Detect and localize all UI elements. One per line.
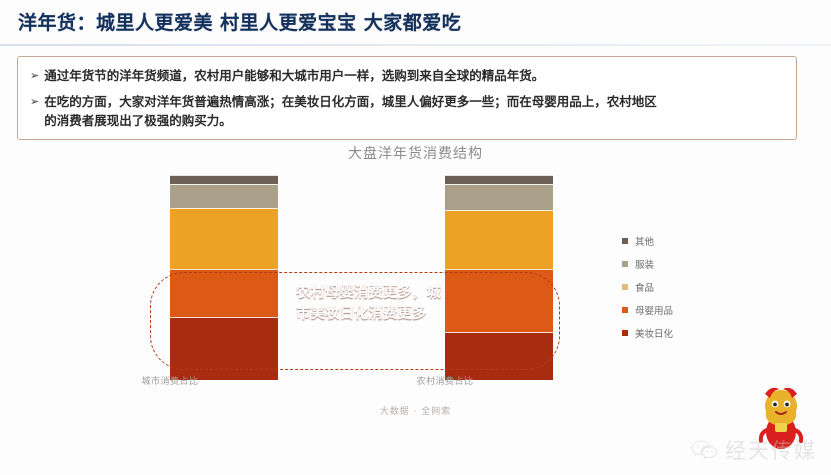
legend-label: 服装: [635, 257, 654, 271]
wechat-icon: [691, 439, 717, 461]
legend-label: 母婴用品: [635, 303, 673, 317]
bar-segment: [445, 210, 553, 269]
legend-swatch: [622, 307, 628, 313]
x-axis-label-rural: 农村消费占比: [375, 374, 515, 387]
legend-item: 其他: [622, 234, 673, 248]
summary-callout-box: ➢ 通过年货节的洋年货频道，农村用户能够和大城市用户一样，选购到来自全球的精品年…: [17, 56, 797, 140]
legend-swatch: [622, 238, 628, 244]
bar-rural: [445, 175, 553, 380]
watermark-text: 经天传媒: [725, 435, 817, 465]
bar-segment: [170, 175, 278, 184]
bar-segment: [445, 184, 553, 210]
x-axis-label-city: 城市消费占比: [100, 374, 240, 387]
bar-segment: [170, 208, 278, 270]
bullet-text: 在吃的方面，大家对洋年货普遍热情高涨；在美妆日化方面，城里人偏好更多一些；而在母…: [44, 92, 784, 130]
chart-legend: 其他服装食品母婴用品美妆日化: [622, 234, 673, 340]
legend-label: 食品: [635, 280, 654, 294]
page-title: 洋年货：城里人更爱美 村里人更爱宝宝 大家都爱吃: [18, 8, 461, 35]
annotation-text: 农村母婴消费更多，城市美妆日化消费更多: [296, 283, 446, 325]
chart-title: 大盘洋年货消费结构: [0, 143, 831, 163]
legend-item: 美妆日化: [622, 326, 673, 340]
bar-segment: [445, 269, 553, 332]
bar-city: [170, 175, 278, 380]
bar-segment: [170, 317, 278, 380]
slide-canvas: 洋年货：城里人更爱美 村里人更爱宝宝 大家都爱吃 ➢ 通过年货节的洋年货频道，农…: [0, 0, 831, 475]
stacked-bar-chart: [120, 168, 680, 380]
bullet-item: ➢ 通过年货节的洋年货频道，农村用户能够和大城市用户一样，选购到来自全球的精品年…: [30, 66, 784, 85]
legend-item: 食品: [622, 280, 673, 294]
legend-swatch: [622, 330, 628, 336]
legend-label: 其他: [635, 234, 654, 248]
title-divider: [0, 44, 831, 46]
bullet-arrow-icon: ➢: [30, 92, 39, 111]
bar-segment: [170, 184, 278, 208]
bullet-arrow-icon: ➢: [30, 66, 39, 85]
legend-swatch: [622, 284, 628, 290]
chart-source-note: 大数据 · 全网索: [0, 404, 831, 417]
legend-swatch: [622, 261, 628, 267]
bullet-item: ➢ 在吃的方面，大家对洋年货普遍热情高涨；在美妆日化方面，城里人偏好更多一些；而…: [30, 92, 784, 130]
bar-segment: [170, 269, 278, 317]
watermark: 经天传媒: [691, 435, 817, 465]
legend-item: 服装: [622, 257, 673, 271]
legend-label: 美妆日化: [635, 326, 673, 340]
bullet-text: 通过年货节的洋年货频道，农村用户能够和大城市用户一样，选购到来自全球的精品年货。: [44, 66, 784, 85]
bar-segment: [445, 175, 553, 184]
legend-item: 母婴用品: [622, 303, 673, 317]
bar-segment: [445, 332, 553, 380]
